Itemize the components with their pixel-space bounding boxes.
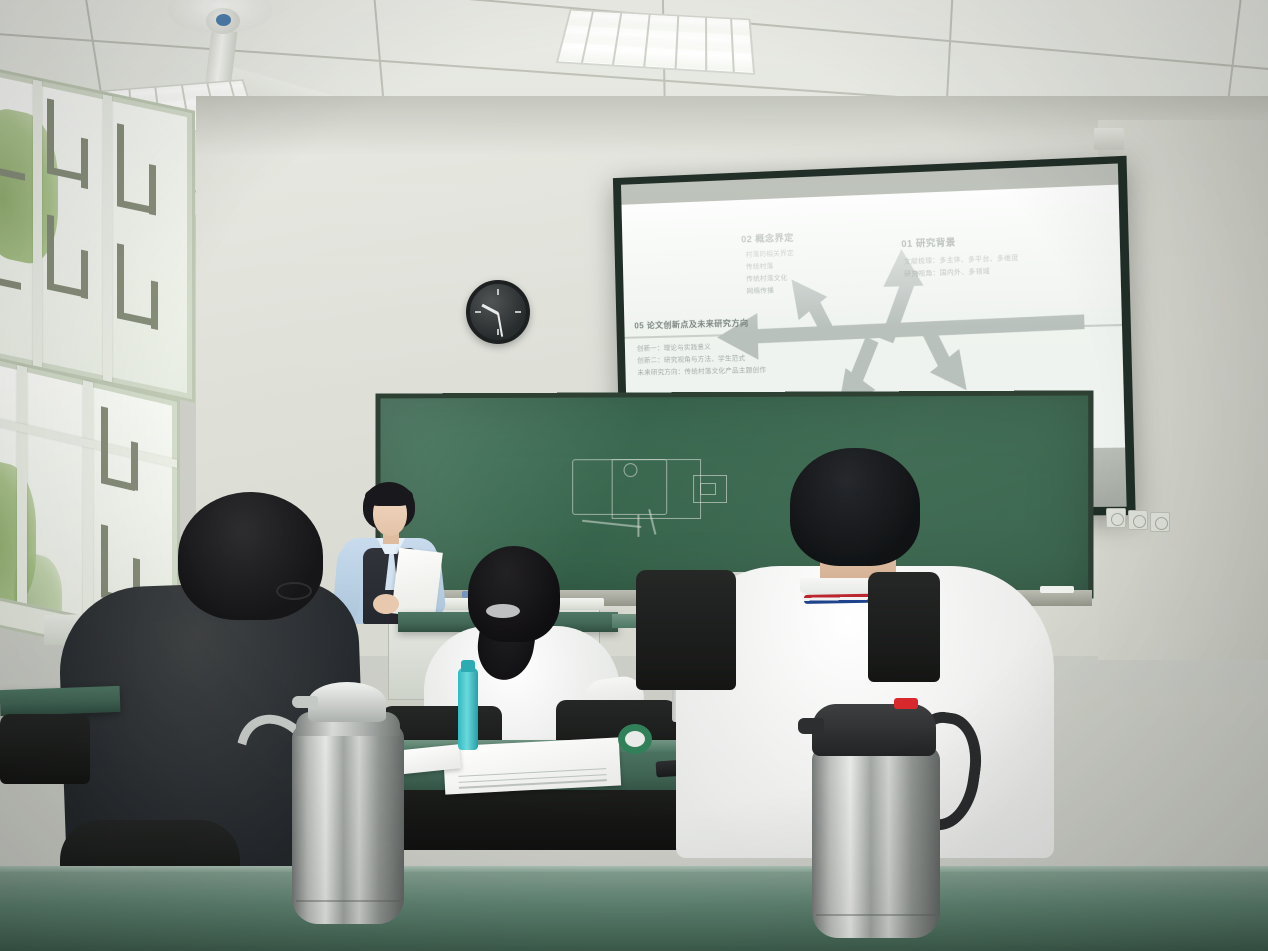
- thermos-body: [292, 724, 404, 924]
- presenter-hand: [373, 594, 399, 614]
- projector-mount: [1094, 128, 1124, 150]
- thermos-lid: [812, 704, 936, 756]
- wall-outlet[interactable]: [1150, 512, 1170, 532]
- student-center-hair: [468, 546, 560, 642]
- thermos-base-ring: [816, 914, 936, 916]
- classroom-scene: 02 概念界定 村落的相关界定 传统村落 传统村落文化 网络传播 01 研究背景…: [0, 0, 1268, 951]
- clock-tick: [497, 329, 499, 335]
- slide-line-02-1: 传统村落: [746, 262, 774, 273]
- spray-bottle: [458, 668, 478, 750]
- tape-roll: [618, 724, 652, 754]
- chalk-stroke: [637, 515, 639, 537]
- desk-row-left: [0, 686, 120, 716]
- thermos-right: [794, 684, 984, 934]
- chair-back: [868, 572, 940, 682]
- slide-line-05-0: 创新一：理论与实践意义: [637, 343, 711, 355]
- chalk-sketch: [624, 463, 638, 477]
- clock-tick: [497, 289, 499, 295]
- slide-line-02-3: 网络传播: [746, 286, 774, 297]
- presenter: [333, 482, 445, 622]
- spray-bottle-cap: [461, 660, 475, 672]
- front-desk: [0, 872, 1268, 951]
- slide-heading-02: 02 概念界定: [741, 230, 794, 245]
- chalk-sketch: [700, 483, 716, 495]
- thermos-spout: [798, 718, 824, 734]
- presenter-papers: [391, 548, 443, 619]
- clock-tick: [475, 311, 481, 313]
- presenter-fringe: [365, 486, 413, 506]
- thermos-base-ring: [296, 900, 400, 902]
- wall-outlet[interactable]: [1128, 510, 1148, 530]
- student-center-hair-tie: [486, 604, 520, 618]
- thermos-left: [246, 676, 416, 926]
- window-frame-upper: [0, 65, 195, 403]
- thermos-lid: [308, 682, 386, 722]
- slide-line-02-2: 传统村落文化: [746, 273, 787, 285]
- slide-line-02-0: 村落的相关界定: [746, 249, 794, 261]
- wall-clock: [466, 280, 530, 344]
- slide-heading-01: 01 研究背景: [901, 235, 956, 250]
- wall-outlet[interactable]: [1106, 508, 1126, 528]
- clock-tick: [515, 311, 521, 313]
- ceiling-fan-logo: [216, 14, 231, 26]
- thermos-spout: [292, 696, 318, 708]
- thermos-release-button[interactable]: [894, 698, 918, 709]
- chalk-stick: [1040, 586, 1074, 593]
- glasses: [276, 582, 312, 600]
- chair-back: [636, 570, 736, 690]
- student-left-hair: [178, 492, 323, 620]
- student-right-hair: [790, 448, 920, 566]
- thermos-body: [812, 746, 940, 938]
- chair-back: [0, 714, 90, 784]
